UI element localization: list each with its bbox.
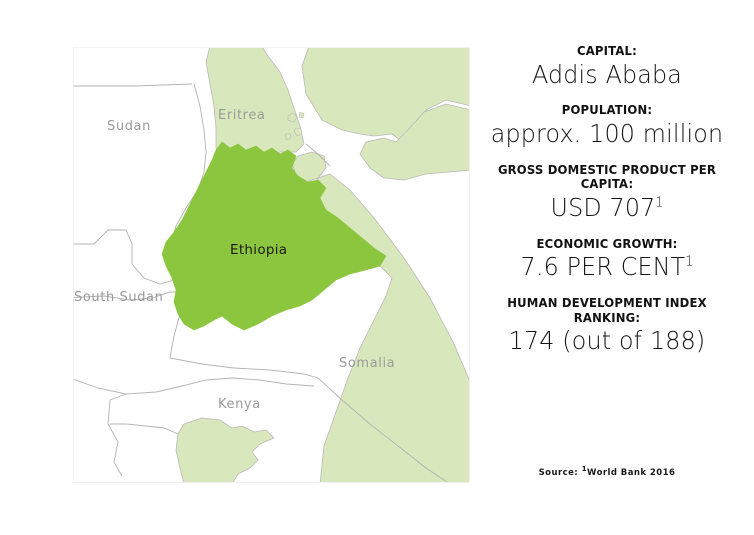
- stat-hdi-ranking: HUMAN DEVELOPMENT INDEX RANKING: 174 (ou…: [474, 296, 740, 357]
- region-map: [74, 48, 470, 483]
- stat-gdp-per-capita: GROSS DOMESTIC PRODUCT PER CAPITA: USD 7…: [474, 163, 740, 224]
- source-text: World Bank 2016: [587, 468, 675, 478]
- map-panel: Sudan Eritrea Ethiopia South Sudan Somal…: [73, 47, 470, 483]
- stat-hdi-label: HUMAN DEVELOPMENT INDEX RANKING:: [483, 296, 730, 326]
- border-south-sudan-south: [74, 376, 314, 394]
- border-south-sudan-north: [74, 292, 186, 300]
- ethiopia-landmass: [162, 142, 386, 330]
- stat-capital-label: CAPITAL:: [483, 44, 730, 59]
- source-prefix: Source:: [539, 468, 582, 478]
- ethiopia-layer: [162, 142, 386, 330]
- stat-population-value: approx. 100 million: [481, 119, 734, 150]
- border-sudan-north: [74, 84, 192, 86]
- stat-gdp-value: USD 7071: [481, 193, 734, 224]
- source-note: Source: 1World Bank 2016: [474, 468, 740, 478]
- stat-gdp-value-text: USD 707: [550, 193, 655, 222]
- border-uganda: [108, 394, 178, 476]
- stat-growth-label: ECONOMIC GROWTH:: [483, 237, 730, 252]
- stat-growth-footnote-marker: 1: [685, 255, 693, 270]
- stat-economic-growth: ECONOMIC GROWTH: 7.6 PER CENT1: [474, 237, 740, 283]
- stat-growth-value-text: 7.6 PER CENT: [521, 252, 686, 281]
- stat-population-label: POPULATION:: [483, 103, 730, 118]
- border-kenya-ethiopia: [170, 358, 318, 378]
- stat-capital: CAPITAL: Addis Ababa: [474, 44, 740, 90]
- stat-capital-value-text: Addis Ababa: [532, 60, 682, 89]
- stat-growth-value: 7.6 PER CENT1: [481, 252, 734, 283]
- stat-population-value-text: approx. 100 million: [491, 119, 724, 148]
- statistics-panel: CAPITAL: Addis Ababa POPULATION: approx.…: [474, 44, 740, 370]
- border-sudan-eritrea: [194, 84, 206, 190]
- stat-hdi-value-text: 174 (out of 188): [509, 326, 706, 355]
- stat-population: POPULATION: approx. 100 million: [474, 103, 740, 149]
- border-sudan-internal-1: [74, 230, 132, 264]
- stat-gdp-label: GROSS DOMESTIC PRODUCT PER CAPITA:: [483, 163, 730, 193]
- stat-hdi-value: 174 (out of 188): [481, 326, 734, 357]
- stat-gdp-footnote-marker: 1: [655, 196, 663, 211]
- lake-victoria-region: [176, 418, 274, 483]
- stat-capital-value: Addis Ababa: [481, 60, 734, 91]
